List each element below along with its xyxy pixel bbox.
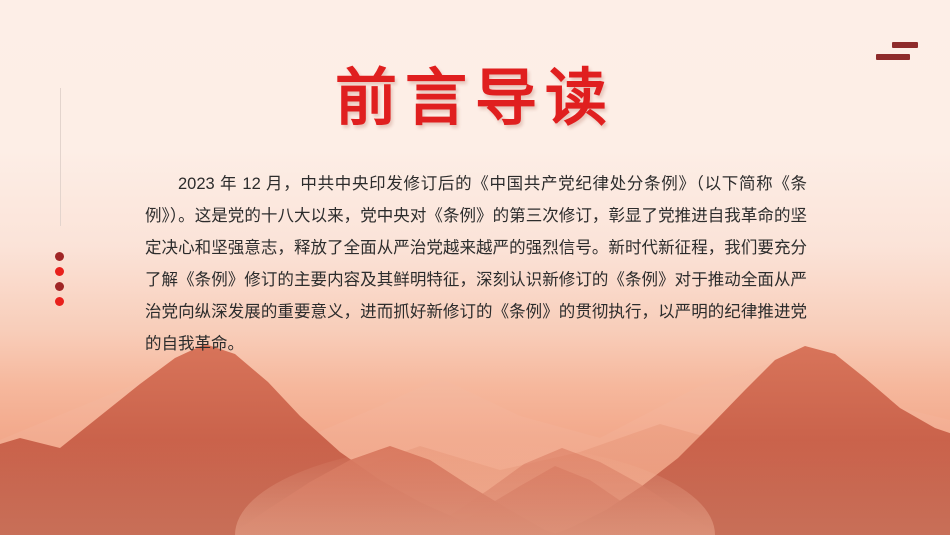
decor-dot-1	[55, 252, 64, 261]
decor-dot-3	[55, 282, 64, 291]
decor-dot-4	[55, 297, 64, 306]
decor-dot-2	[55, 267, 64, 276]
dot-stack-decoration	[55, 252, 67, 312]
bottom-haze	[0, 440, 950, 535]
slide-canvas: 前言导读 2023 年 12 月，中共中央印发修订后的《中国共产党纪律处分条例》…	[0, 0, 950, 535]
page-title: 前言导读	[0, 68, 950, 130]
equals-bar-top	[892, 42, 918, 48]
equals-mark-icon	[876, 40, 918, 64]
body-paragraph: 2023 年 12 月，中共中央印发修订后的《中国共产党纪律处分条例》（以下简称…	[145, 168, 807, 360]
equals-bar-bottom	[876, 54, 910, 60]
